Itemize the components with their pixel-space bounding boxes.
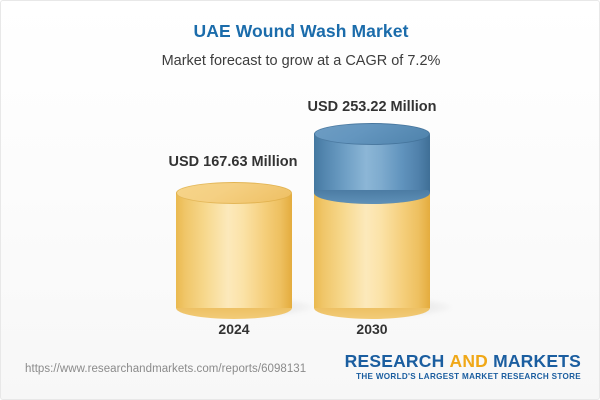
bar-2024[interactable]	[176, 1, 292, 346]
source-url-link[interactable]: https://www.researchandmarkets.com/repor…	[25, 363, 306, 375]
cylinder-body-2024	[176, 193, 292, 308]
chart-plot-area: USD 167.63 Million 2024 USD 253.22 Milli…	[1, 1, 600, 346]
cylinder-top-2024	[176, 182, 292, 204]
logo-word-markets: MARKETS	[493, 351, 581, 371]
category-label-2024: 2024	[176, 321, 292, 337]
bar-2030[interactable]	[314, 1, 430, 346]
logo-tagline: THE WORLD'S LARGEST MARKET RESEARCH STOR…	[345, 372, 581, 381]
research-and-markets-logo[interactable]: RESEARCH AND MARKETS THE WORLD'S LARGEST…	[345, 352, 581, 381]
cylinder-top-2030	[314, 123, 430, 145]
logo-wordmark: RESEARCH AND MARKETS	[345, 352, 581, 370]
logo-word-research: RESEARCH	[345, 351, 445, 371]
logo-word-and: AND	[449, 351, 488, 371]
footer: https://www.researchandmarkets.com/repor…	[1, 344, 600, 399]
category-label-2030: 2030	[314, 321, 430, 337]
chart-canvas: UAE Wound Wash Market Market forecast to…	[0, 0, 600, 400]
cylinder-segment-base-2030	[314, 193, 430, 308]
